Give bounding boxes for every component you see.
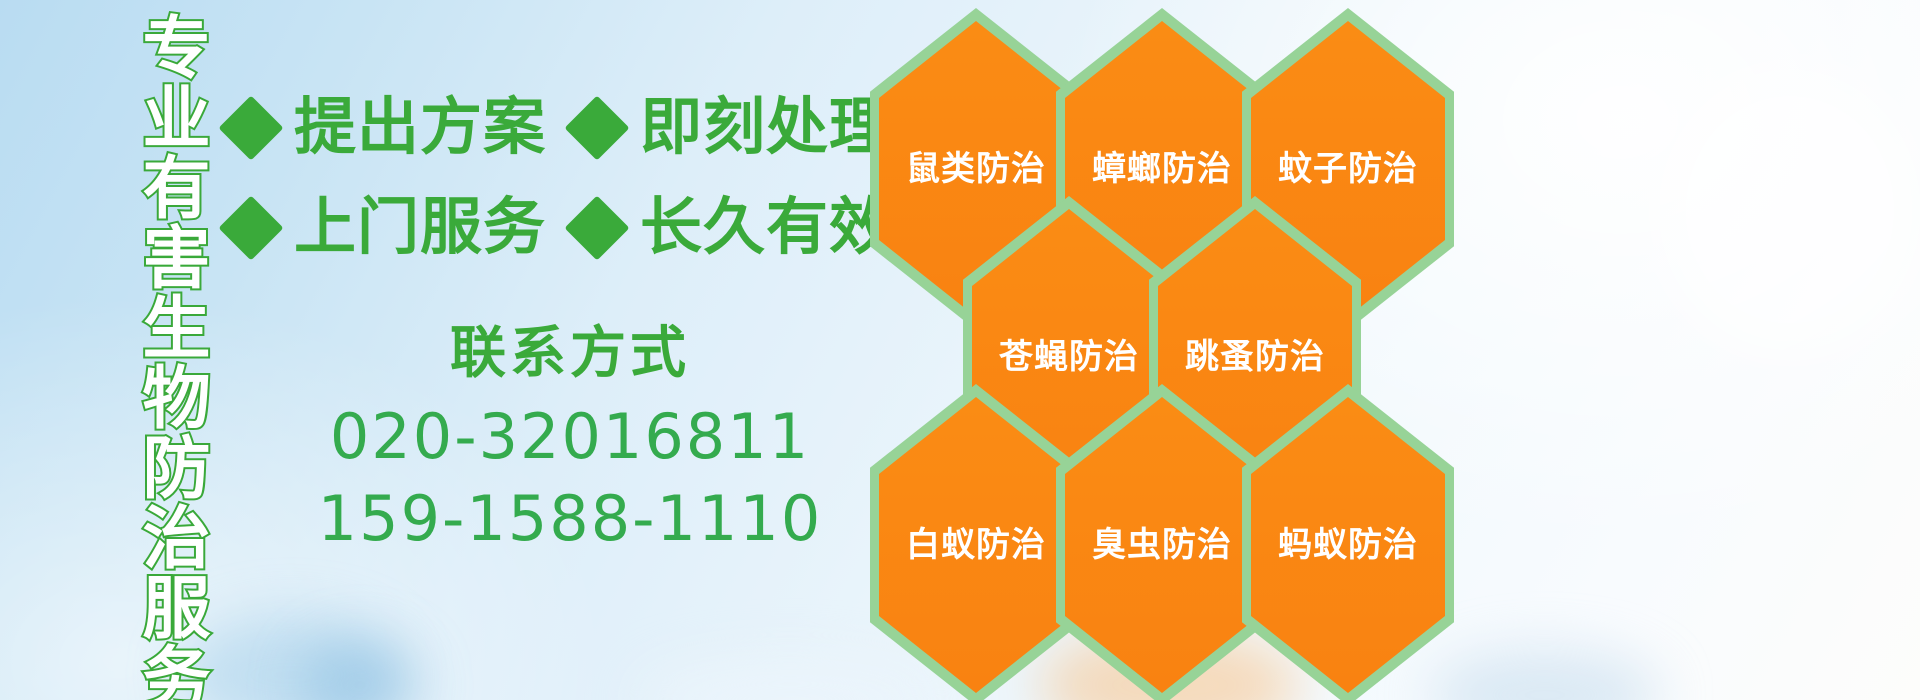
contact-block: 联系方式 020-32016811 159-1588-1110 [260, 318, 880, 561]
service-label: 蚊子防治 [1278, 152, 1418, 186]
feature-label: 提出方案 [294, 97, 546, 159]
feature-label: 即刻处理 [640, 97, 892, 159]
service-label: 苍蝇防治 [999, 340, 1139, 374]
vertical-headline: 专业有害生物防治服务 [108, 12, 204, 672]
contact-phone-mobile[interactable]: 159-1588-1110 [260, 478, 880, 560]
pest-control-banner: 专业有害生物防治服务 提出方案 即刻处理 上门服务 长久有效 联系方式 [0, 0, 1920, 700]
feature-label: 上门服务 [294, 197, 546, 259]
feature-item: 长久有效 [574, 197, 892, 259]
service-label: 臭虫防治 [1092, 528, 1232, 562]
contact-title: 联系方式 [260, 318, 880, 388]
feature-row: 提出方案 即刻处理 [228, 78, 868, 178]
feature-label: 长久有效 [640, 197, 892, 259]
feature-row: 上门服务 长久有效 [228, 178, 868, 278]
service-label: 蚂蚁防治 [1278, 528, 1418, 562]
service-label: 跳蚤防治 [1185, 340, 1325, 374]
diamond-icon [564, 195, 629, 260]
feature-item: 上门服务 [228, 197, 546, 259]
diamond-icon [564, 95, 629, 160]
contact-phone-landline[interactable]: 020-32016811 [260, 396, 880, 478]
diamond-icon [218, 95, 283, 160]
decorative-blob [180, 615, 400, 700]
decorative-blob [300, 640, 420, 700]
feature-list: 提出方案 即刻处理 上门服务 长久有效 [228, 78, 868, 278]
service-label: 蟑螂防治 [1092, 152, 1232, 186]
feature-item: 即刻处理 [574, 97, 892, 159]
service-label: 白蚁防治 [906, 528, 1046, 562]
feature-item: 提出方案 [228, 97, 546, 159]
diamond-icon [218, 195, 283, 260]
service-honeycomb: 鼠类防治 蟑螂防治 蚊子防治 苍蝇防治 跳蚤防治 白蚁防治 臭虫防治 [862, 0, 1920, 700]
service-label: 鼠类防治 [906, 152, 1046, 186]
